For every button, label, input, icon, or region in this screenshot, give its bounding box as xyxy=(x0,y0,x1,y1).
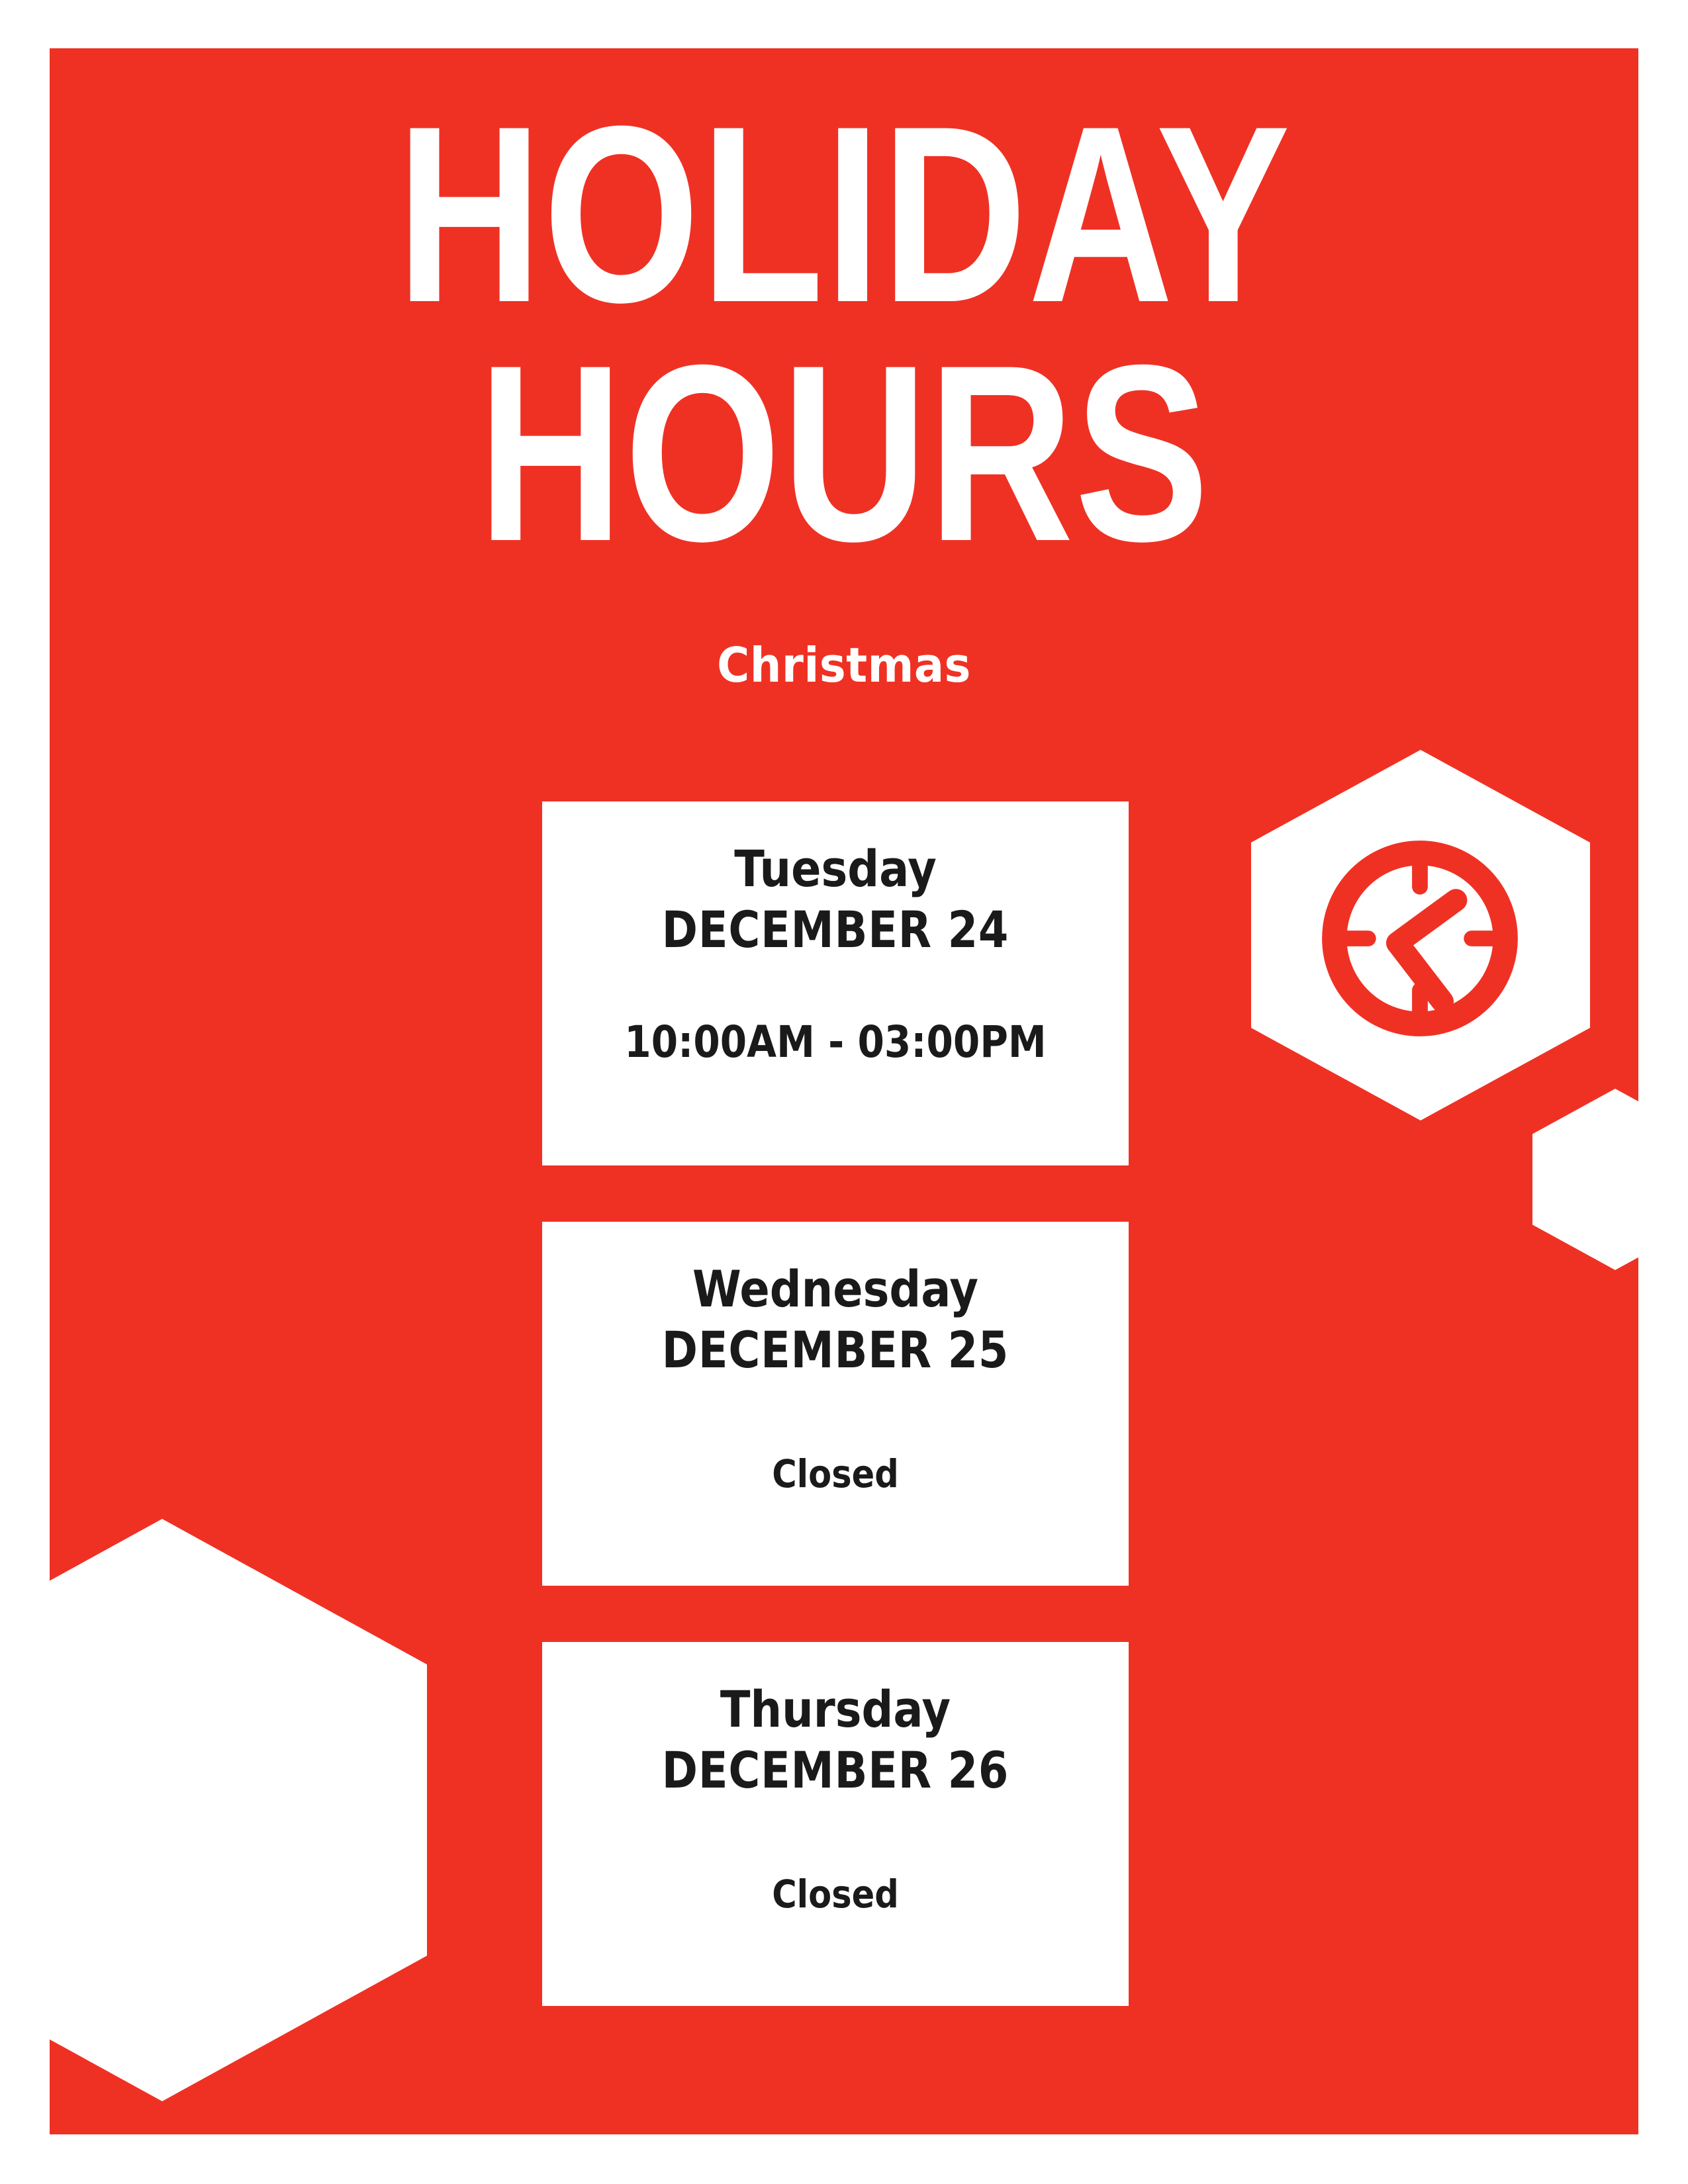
schedule-date: DECEMBER 26 xyxy=(583,1738,1088,1802)
schedule-list: Tuesday DECEMBER 24 10:00AM - 03:00PM We… xyxy=(542,801,1129,2062)
schedule-hours: Closed xyxy=(577,1872,1094,1917)
schedule-date: DECEMBER 24 xyxy=(583,897,1088,962)
schedule-day-name: Wednesday xyxy=(577,1260,1094,1318)
schedule-card: Thursday DECEMBER 26 Closed xyxy=(542,1642,1129,2006)
schedule-day-name: Thursday xyxy=(577,1680,1094,1738)
clock-icon xyxy=(1307,826,1532,1051)
hexagon-bottom-left xyxy=(50,1519,427,2101)
schedule-card: Wednesday DECEMBER 25 Closed xyxy=(542,1222,1129,1586)
page-title-line-2: HOURS xyxy=(209,334,1479,572)
page-title-line-1: HOLIDAY xyxy=(209,95,1479,334)
holiday-hours-poster: HOLIDAY HOURS Christmas Tuesday DECEMBER… xyxy=(0,0,1688,2184)
schedule-date: DECEMBER 25 xyxy=(583,1318,1088,1382)
hexagon-small xyxy=(1532,1089,1638,1270)
schedule-hours: Closed xyxy=(577,1451,1094,1496)
poster-subtitle: Christmas xyxy=(105,637,1583,693)
schedule-card: Tuesday DECEMBER 24 10:00AM - 03:00PM xyxy=(542,801,1129,1165)
poster-heading: HOLIDAY HOURS xyxy=(50,95,1638,572)
schedule-hours: 10:00AM - 03:00PM xyxy=(577,1017,1094,1068)
schedule-day-name: Tuesday xyxy=(577,840,1094,897)
poster-background-panel: HOLIDAY HOURS Christmas Tuesday DECEMBER… xyxy=(50,48,1638,2134)
